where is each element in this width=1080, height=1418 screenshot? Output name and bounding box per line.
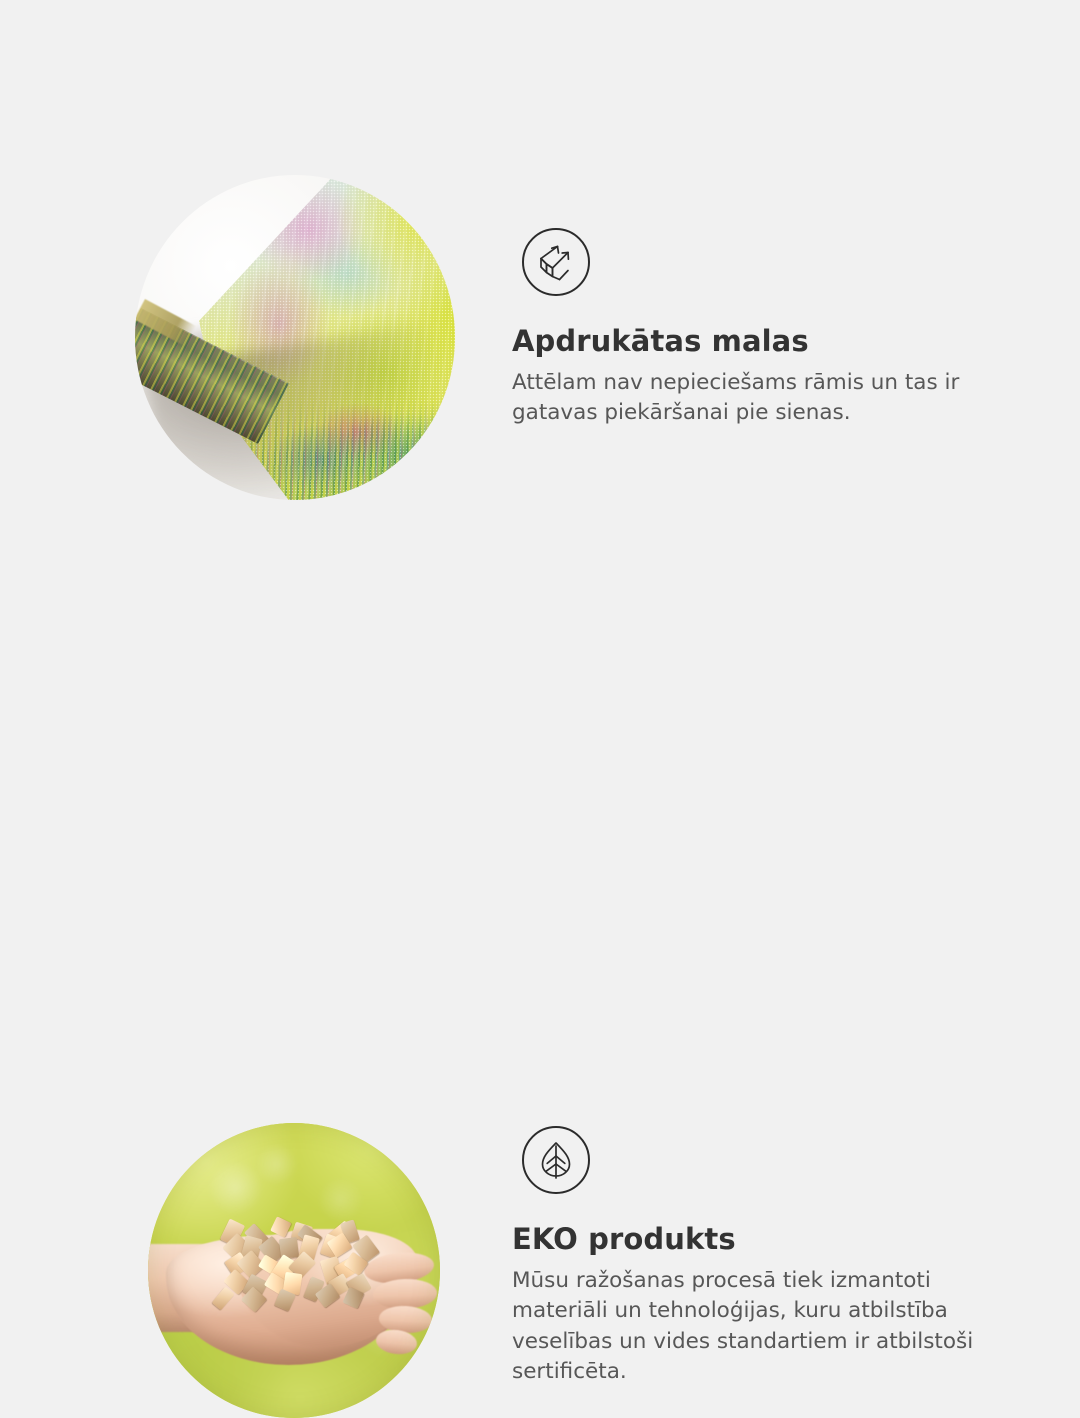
wood-chips-hands-photo — [148, 1123, 440, 1418]
feature-text-printed-edges: Apdrukātas malas Attēlam nav nepieciešam… — [512, 228, 1012, 429]
feature-description: Attēlam nav nepieciešams rāmis un tas ir… — [512, 368, 994, 429]
feature-title: Apdrukātas malas — [512, 324, 1012, 359]
printed-edges-glyph — [534, 240, 578, 284]
feature-title: EKO produkts — [512, 1222, 1012, 1257]
feature-description: Mūsu ražošanas procesā tiek izmantoti ma… — [512, 1266, 994, 1388]
feature-text-eco-product: EKO produkts Mūsu ražošanas procesā tiek… — [512, 1126, 1012, 1388]
feature-block-eco-product: EKO produkts Mūsu ražošanas procesā tiek… — [0, 540, 1080, 1080]
leaf-glyph — [534, 1138, 578, 1182]
canvas-corner-photo — [135, 175, 455, 500]
photo-vignette — [148, 1123, 440, 1418]
printed-edges-icon — [522, 228, 590, 296]
feature-block-printed-edges: Apdrukātas malas Attēlam nav nepieciešam… — [0, 0, 1080, 540]
leaf-icon — [522, 1126, 590, 1194]
feature-panel: Apdrukātas malas Attēlam nav nepieciešam… — [0, 0, 1080, 1080]
